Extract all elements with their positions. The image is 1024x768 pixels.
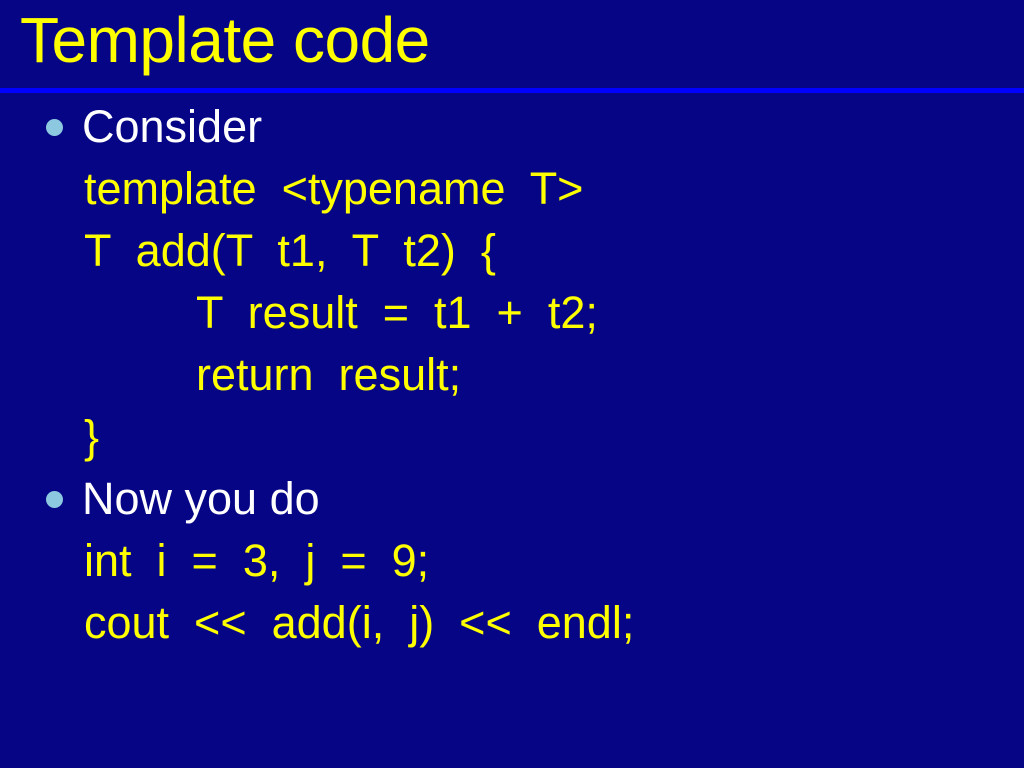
slide-canvas: Template code Considertemplate <typename… [0,0,1024,768]
code-line-text: T add(T t1, T t2) { [84,220,496,282]
code-line-text: } [84,406,99,468]
code-line: T add(T t1, T t2) { [0,220,1024,282]
title-divider-rule [0,88,1024,93]
bullet-point-icon [46,119,63,136]
code-line: template <typename T> [0,158,1024,220]
code-line: return result; [0,344,1024,406]
code-line-text: template <typename T> [84,158,583,220]
code-line: cout << add(i, j) << endl; [0,592,1024,654]
page-title: Template code [20,0,430,84]
code-line: T result = t1 + t2; [0,282,1024,344]
code-line-text: cout << add(i, j) << endl; [84,592,634,654]
bullet-point-icon [46,491,63,508]
bullet-item-label: Consider [82,96,262,158]
slide-body: Considertemplate <typename T>T add(T t1,… [0,96,1024,768]
code-line: } [0,406,1024,468]
code-line-text: int i = 3, j = 9; [84,530,429,592]
slide-title-area: Template code [0,0,1024,88]
bullet-list-item: Now you do [0,468,1024,530]
code-line-text: T result = t1 + t2; [196,282,598,344]
code-line: int i = 3, j = 9; [0,530,1024,592]
bullet-list-item: Consider [0,96,1024,158]
bullet-item-label: Now you do [82,468,320,530]
code-line-text: return result; [196,344,461,406]
